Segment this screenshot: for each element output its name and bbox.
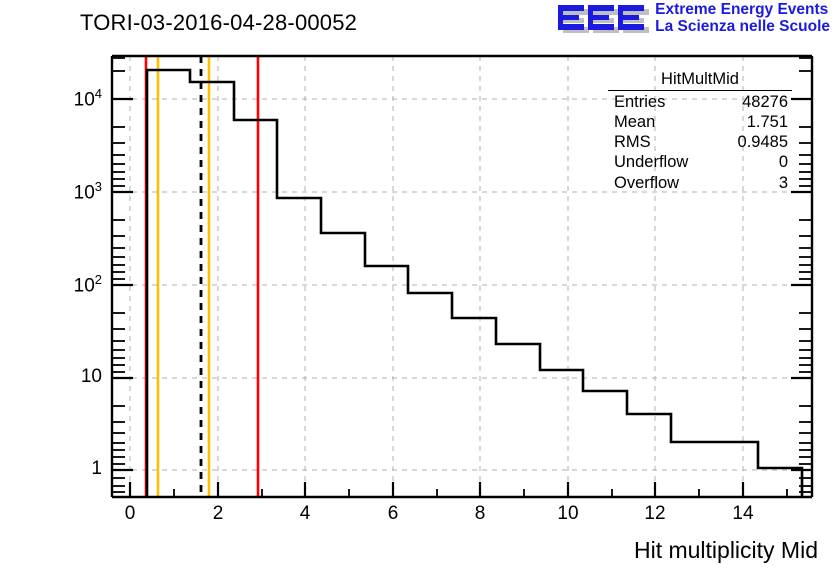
y-tick-label-10: 10 [28,366,102,388]
stats-row: Overflow 3 [608,173,792,193]
stats-box-title: HitMultMid [608,70,792,91]
stats-key: Entries [614,92,665,112]
x-tick-label-8: 8 [460,503,500,525]
stats-row: Entries 48276 [608,92,792,112]
eee-letters-icon [557,2,649,36]
eee-logo-text: Extreme Energy Events La Scienza nelle S… [655,2,830,35]
y-tick-label-10000: 104 [28,86,102,111]
x-tick-label-6: 6 [373,503,413,525]
stats-row: Underflow 0 [608,152,792,172]
stats-key: RMS [614,132,651,152]
stats-key: Mean [614,112,655,132]
x-tick-label-12: 12 [635,503,675,525]
eee-logo-mark [557,2,649,36]
x-tick-label-0: 0 [110,503,150,525]
stats-value: 3 [779,173,788,193]
eee-logo-line1: Extreme Energy Events [655,2,830,19]
stats-row: RMS 0.9485 [608,132,792,152]
eee-logo-line2: La Scienza nelle Scuole [655,19,830,36]
x-tick-label-10: 10 [548,503,588,525]
stats-value: 0 [779,152,788,172]
stats-key: Underflow [614,152,688,172]
stats-value: 1.751 [747,112,788,132]
stats-value: 48276 [742,92,788,112]
eee-logo: Extreme Energy Events La Scienza nelle S… [557,2,830,36]
page-title: TORI-03-2016-04-28-00052 [80,10,357,36]
y-tick-label-1000: 103 [28,179,102,204]
x-tick-label-4: 4 [285,503,325,525]
x-tick-label-2: 2 [198,503,238,525]
stats-value: 0.9485 [738,132,788,152]
stats-row: Mean 1.751 [608,112,792,132]
stats-key: Overflow [614,173,679,193]
y-tick-label-100: 102 [28,272,102,297]
x-axis-title: Hit multiplicity Mid [634,537,818,564]
stats-box: HitMultMid Entries 48276 Mean 1.751 RMS … [608,70,792,193]
x-tick-label-14: 14 [723,503,763,525]
y-tick-label-1: 1 [28,458,102,480]
